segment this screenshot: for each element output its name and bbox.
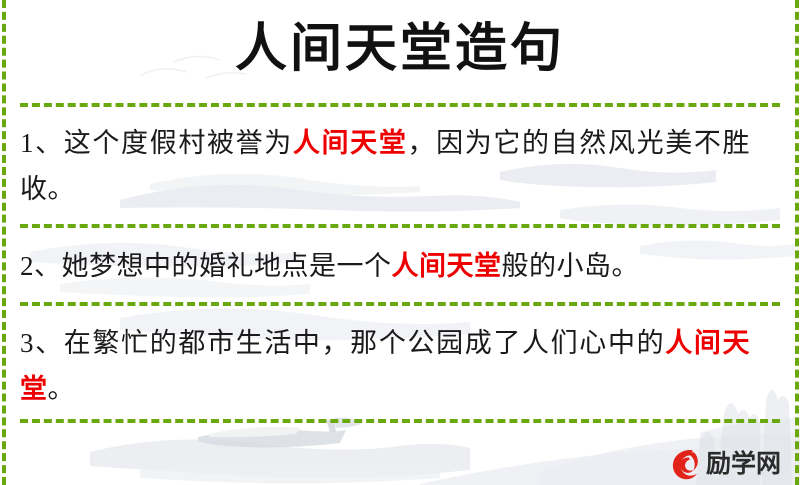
- highlight-term: 人间天堂: [293, 128, 408, 158]
- list-item: 3、在繁忙的都市生活中，那个公园成了人们心中的人间天堂。: [20, 320, 750, 412]
- frame-border-left: [2, 0, 6, 485]
- site-logo[interactable]: 励学网: [668, 447, 781, 481]
- page-title: 人间天堂造句: [0, 10, 800, 88]
- worksheet-page: 人间天堂造句 1、这个度假村被誉为人间天堂，因为它的自然风光美不胜收。 2、她梦…: [0, 0, 800, 485]
- divider-above-sentence-2: [20, 224, 780, 228]
- sentence-text-before: 她梦想中的婚礼地点是一个: [62, 251, 392, 281]
- sentence-text-after: 般的小岛。: [502, 251, 640, 281]
- frame-border-right: [795, 0, 799, 485]
- flame-swirl-icon: [668, 447, 702, 481]
- sentence-text-before: 在繁忙的都市生活中，那个公园成了人们心中的: [64, 328, 665, 358]
- sentence-text-before: 这个度假村被誉为: [64, 128, 293, 158]
- sentence-index: 1、: [20, 128, 64, 158]
- sentence-index: 3、: [20, 328, 64, 358]
- highlight-term: 人间天堂: [392, 251, 502, 281]
- sentence-text-after: 。: [48, 374, 76, 404]
- divider-above-sentence-1: [20, 103, 780, 107]
- list-item: 2、她梦想中的婚礼地点是一个人间天堂般的小岛。: [20, 243, 750, 289]
- sentence-index: 2、: [20, 251, 62, 281]
- divider-below-sentence-3: [20, 419, 780, 423]
- list-item: 1、这个度假村被誉为人间天堂，因为它的自然风光美不胜收。: [20, 120, 750, 212]
- divider-above-sentence-3: [20, 302, 780, 306]
- logo-text: 励学网: [706, 450, 781, 478]
